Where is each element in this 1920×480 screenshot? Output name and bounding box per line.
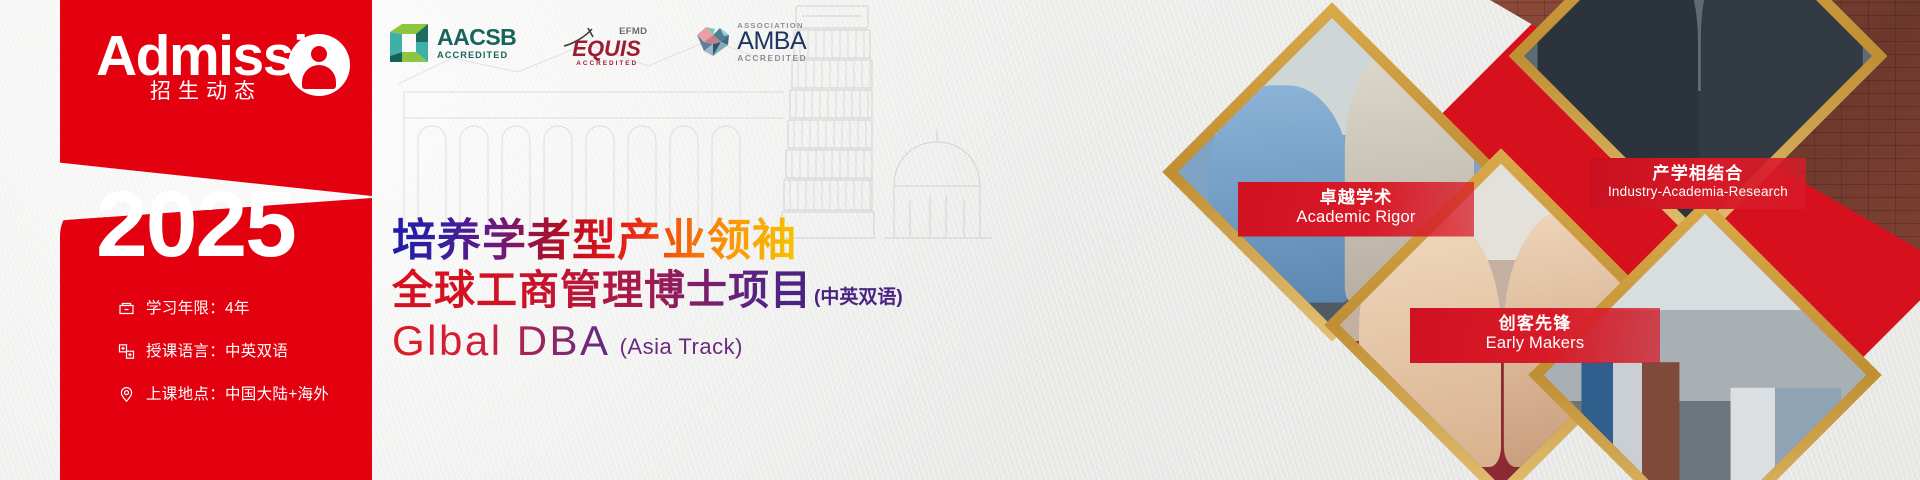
admission-subtitle-cn: 招生动态 [150, 75, 262, 105]
label-early-makers-cn: 创客先锋 [1426, 314, 1644, 334]
admission-banner: Admissi 招生动态 2025 学习年限：4年 [0, 0, 1920, 480]
label-academic-rigor: 卓越学术 Academic Rigor [1238, 182, 1474, 237]
label-industry-academia-cn: 产学相结合 [1606, 164, 1790, 184]
program-title-cn: 全球工商管理博士项目 [392, 268, 812, 314]
label-early-makers: 创客先锋 Early Makers [1410, 308, 1660, 363]
aacsb-logo-icon [388, 22, 430, 64]
info-row-location: 上课地点：中国大陆+海外 [118, 386, 368, 403]
label-early-makers-en: Early Makers [1426, 334, 1644, 353]
info-text-language: 授课语言：中英双语 [146, 344, 288, 360]
equis-accredited-label: ACCREDITED [576, 60, 638, 67]
amba-accreditation: ASSOCIATION AMBA ACCREDITED [694, 22, 807, 63]
amba-logo-icon [694, 23, 732, 61]
amba-name: AMBA [737, 30, 807, 54]
book-icon [118, 300, 135, 317]
headline-gradient: 培养学者型产业领袖 [392, 216, 797, 265]
language-icon [118, 343, 135, 360]
photo-collage: 卓越学术 Academic Rigor 产学相结合 Industry-Acade… [1160, 0, 1920, 480]
equis-wordmark: EQUIS [572, 38, 640, 60]
program-title-en-row: Glbal DBA (Asia Track) [392, 318, 743, 364]
person-icon-body [302, 65, 336, 89]
info-text-location: 上课地点：中国大陆+海外 [146, 387, 329, 403]
equis-accreditation: EFMD EQUIS ACCREDITED [562, 22, 648, 68]
left-red-panel: Admissi 招生动态 2025 学习年限：4年 [0, 0, 372, 480]
label-industry-academia-en: Industry-Academia-Research [1606, 184, 1790, 200]
aacsb-wordmark: AACSB ACCREDITED [437, 26, 516, 60]
program-title-en: Glbal DBA [392, 318, 611, 364]
info-text-duration: 学习年限：4年 [146, 301, 250, 317]
program-title-paren: (中英双语) [814, 282, 903, 314]
label-academic-rigor-en: Academic Rigor [1254, 208, 1458, 227]
person-icon-head [311, 46, 327, 62]
label-academic-rigor-cn: 卓越学术 [1254, 188, 1458, 208]
aacsb-accredited-label: ACCREDITED [437, 51, 516, 60]
info-row-duration: 学习年限：4年 [118, 300, 368, 317]
year-label: 2025 [96, 178, 295, 271]
program-title-en-paren: (Asia Track) [620, 334, 743, 364]
amba-wordmark: ASSOCIATION AMBA ACCREDITED [737, 22, 807, 63]
admission-lockup: Admissi 招生动态 [96, 28, 354, 114]
aacsb-name: AACSB [437, 26, 516, 49]
program-info-list: 学习年限：4年 授课语言：中英双语 上课地点：中 [118, 300, 368, 429]
aacsb-accreditation: AACSB ACCREDITED [388, 22, 516, 64]
amba-accredited-label: ACCREDITED [737, 54, 807, 62]
program-title-row: 全球工商管理博士项目 (中英双语) [392, 268, 903, 314]
location-pin-icon [118, 386, 135, 403]
label-industry-academia: 产学相结合 Industry-Academia-Research [1590, 158, 1806, 209]
person-icon [288, 34, 350, 96]
accreditation-logos: AACSB ACCREDITED EFMD EQUIS ACCREDITED [388, 22, 807, 68]
info-row-language: 授课语言：中英双语 [118, 343, 368, 360]
